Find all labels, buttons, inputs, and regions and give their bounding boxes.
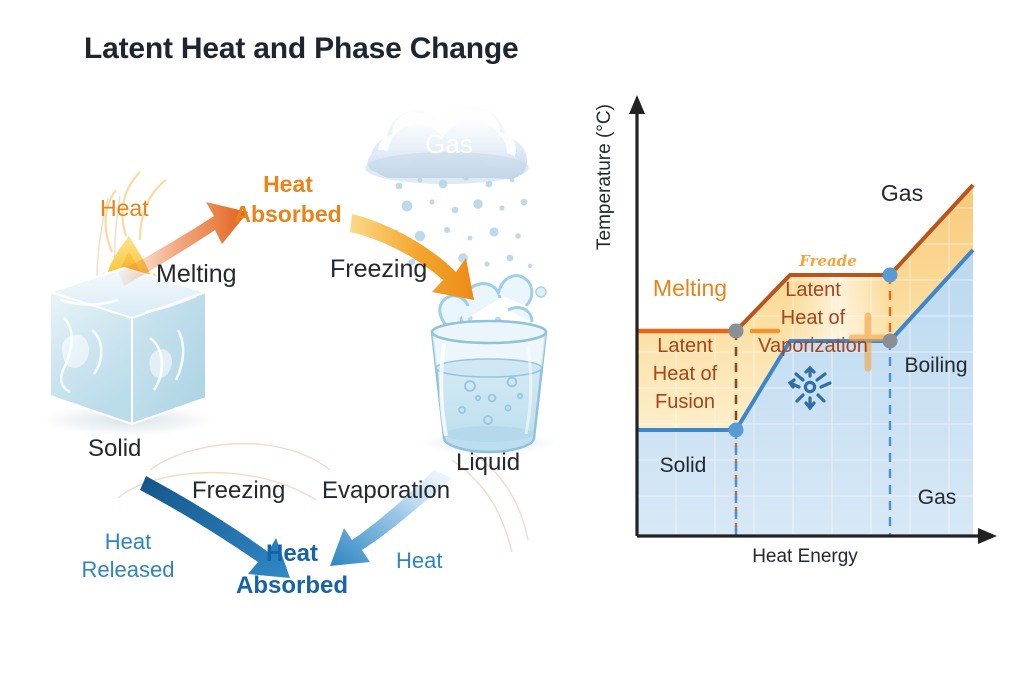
chart-solid-label: Solid (660, 454, 707, 478)
freezing-label-top: Freezing (330, 255, 427, 283)
heat-label-right: Heat (396, 549, 442, 574)
chart-latent-fusion-line3: Fusion (655, 391, 715, 414)
heat-label-left: Heat (100, 196, 149, 222)
boiling-point-lower-marker (883, 334, 898, 349)
chart-latent-vapor-line3: Vaporization (758, 335, 868, 358)
diagram-canvas: Latent Heat and Phase Change (0, 0, 1024, 683)
y-axis-arrow (629, 95, 645, 114)
chart-melting-label: Melting (653, 275, 727, 302)
heat-absorbed-bottom-line2: Absorbed (236, 573, 348, 600)
chart-gas-top-label: Gas (881, 180, 923, 207)
chart-boiling-label: Boiling (904, 354, 967, 378)
heat-released-line1: Heat (105, 530, 151, 555)
liquid-label: Liquid (456, 450, 520, 477)
chart-latent-fusion-line1: Latent (657, 335, 713, 358)
gas-label-cloud: Gas (425, 130, 473, 159)
heat-absorbed-bottom-line1: Heat (266, 541, 318, 568)
evaporation-label: Evaporation (322, 478, 450, 505)
heat-released-line2: Released (82, 558, 175, 583)
melting-label: Melting (156, 260, 237, 288)
chart-latent-fusion-line2: Heat of (653, 363, 717, 386)
boiling-point-upper-marker (883, 268, 898, 283)
x-axis-title: Heat Energy (752, 546, 858, 568)
chart-handwriting-annotation: Freade (799, 252, 857, 270)
chart-gas-bottom-label: Gas (918, 486, 957, 510)
chart-latent-vapor-line2: Heat of (781, 307, 845, 330)
heat-absorbed-top-line2: Absorbed (234, 202, 341, 228)
water-glass-icon (421, 276, 557, 455)
chart-latent-vapor-line1: Latent (785, 279, 841, 302)
chart-plot (600, 80, 1024, 580)
heat-absorbed-top-line1: Heat (263, 172, 313, 198)
melting-point-lower-marker (729, 423, 744, 438)
y-axis-title: Temperature (°C) (594, 104, 616, 250)
melting-point-upper-marker (729, 324, 744, 339)
phase-change-chart: Temperature (°C) Heat Energy Melting Lat… (600, 80, 1024, 580)
solid-label: Solid (88, 436, 141, 463)
freezing-label-bottom: Freezing (192, 478, 285, 505)
phase-change-cycle-diagram: Heat Heat Absorbed Melting Freezing Gas … (0, 0, 600, 683)
x-axis-arrow (978, 528, 997, 544)
